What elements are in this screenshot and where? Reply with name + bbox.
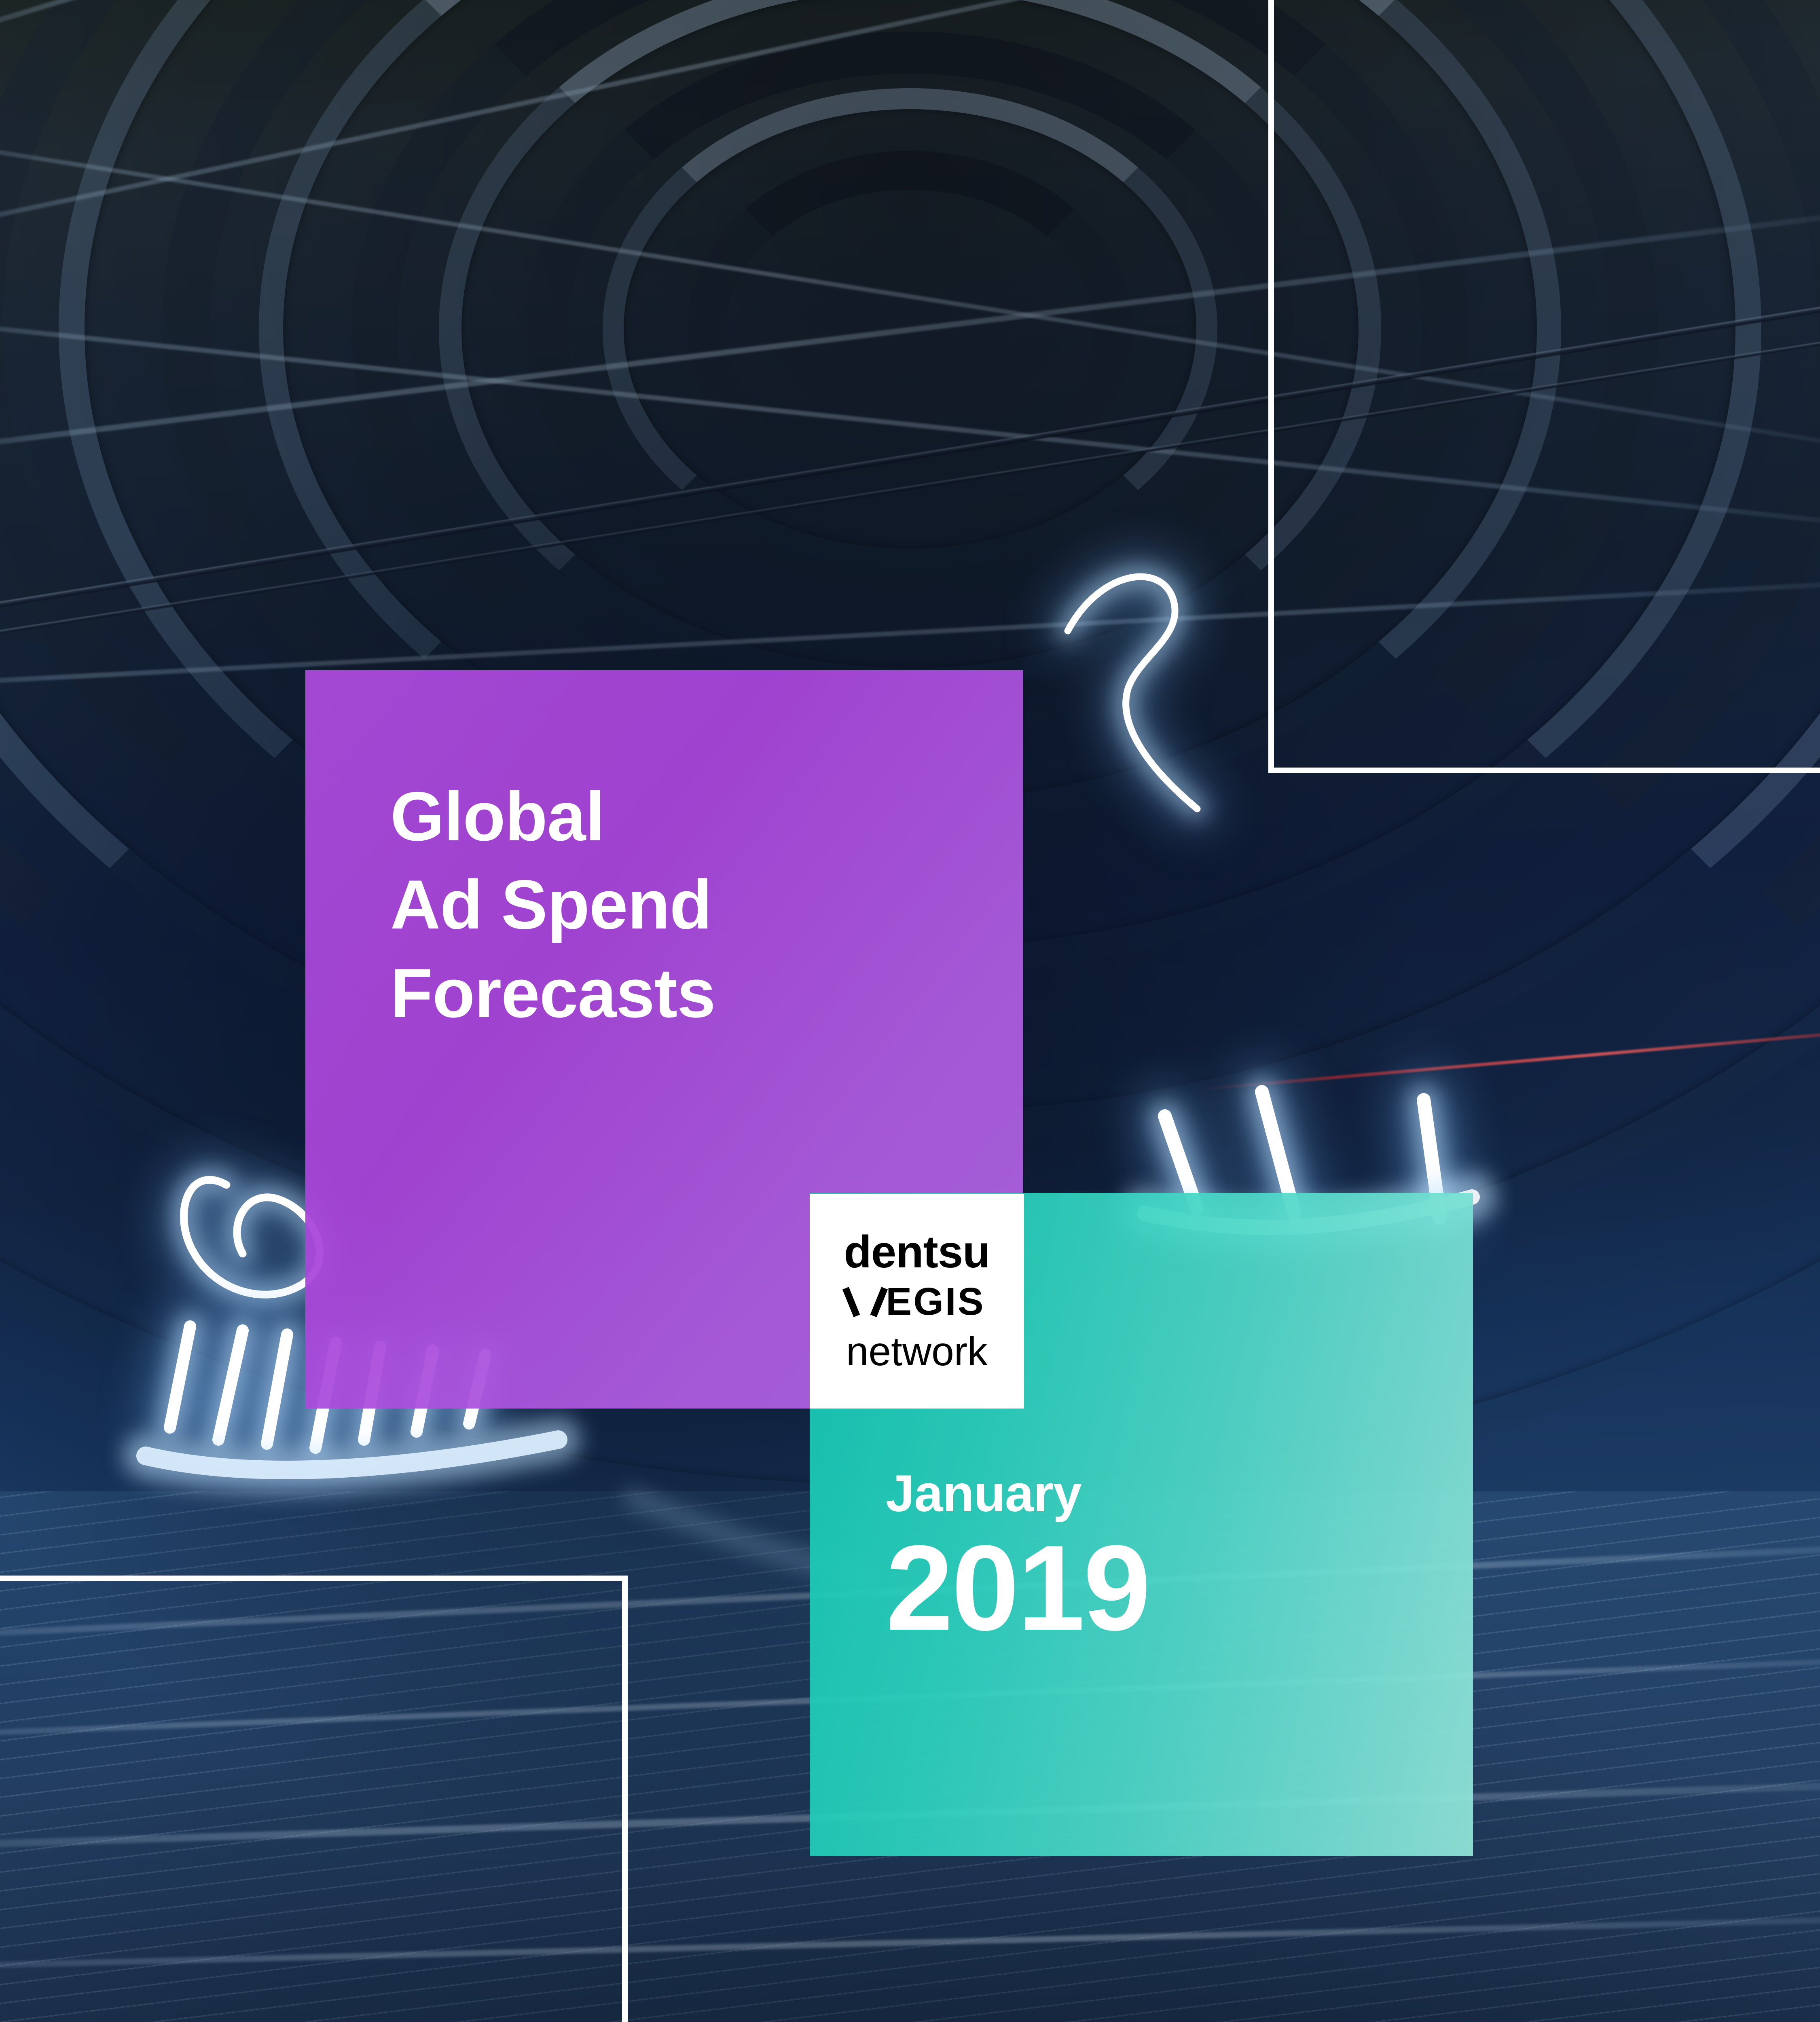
corner-bracket-bottom-left-horizontal [0,1576,628,1581]
publication-month: January [886,1468,1452,1520]
brand-logo: dentsu EGIS network [810,1194,1024,1409]
page-title-line-1: Global [390,772,1021,861]
report-cover: Global Ad Spend Forecasts dentsu EGIS ne… [0,0,1820,2022]
publication-year: 2019 [886,1527,1452,1648]
publication-date: January 2019 [886,1468,1452,1648]
page-title-line-3: Forecasts [390,949,1021,1037]
logo-wordmark-aegis: EGIS [849,1280,985,1324]
aegis-lambda-icon [849,1288,882,1316]
corner-bracket-bottom-left-vertical [622,1576,628,2022]
logo-wordmark-network: network [846,1329,988,1374]
page-title: Global Ad Spend Forecasts [390,772,1021,1037]
logo-wordmark-aegis-text: EGIS [886,1280,985,1324]
corner-bracket-top-right-horizontal [1268,768,1820,773]
corner-bracket-top-right-vertical [1268,0,1274,773]
logo-wordmark-dentsu: dentsu [844,1229,990,1275]
page-title-line-2: Ad Spend [390,861,1021,949]
